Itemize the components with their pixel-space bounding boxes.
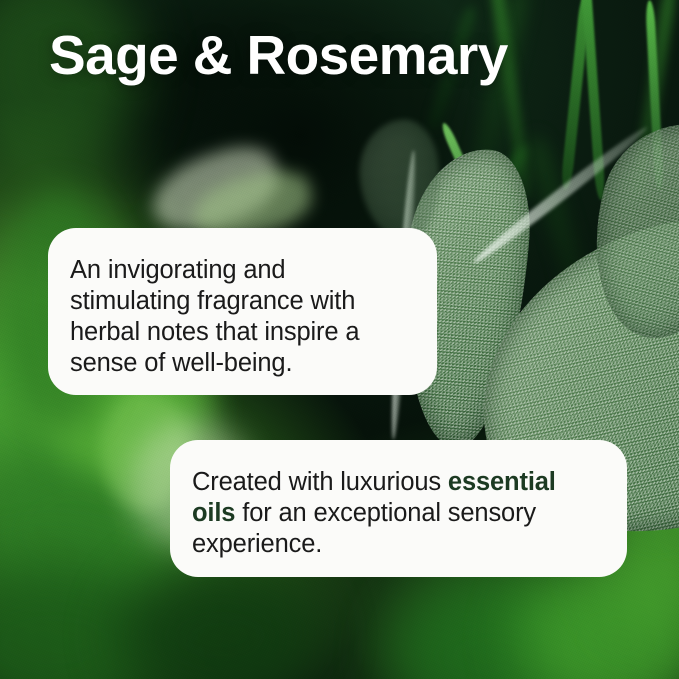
sage-leaf-background: [354, 116, 446, 244]
rosemary-needle: [526, 134, 593, 312]
card-text-tail: for an exceptional sensory experience.: [192, 499, 536, 558]
leaf-blob: [520, 560, 679, 679]
card-line: sense of well-being.: [70, 348, 415, 379]
page-title: Sage & Rosemary: [49, 26, 508, 85]
card-line: herbal notes that inspire a: [70, 317, 415, 348]
leaf-blob: [0, 430, 190, 630]
rosemary-needle: [560, 0, 592, 191]
sage-leaf: [572, 105, 679, 355]
rosemary-needle: [645, 0, 664, 190]
product-feature-image: Sage & Rosemary An invigorating and stim…: [0, 0, 679, 679]
rosemary-needle: [449, 143, 531, 293]
fragrance-description-card: An invigorating and stimulating fragranc…: [48, 228, 437, 395]
sage-leaf-edge: [470, 123, 651, 268]
card-line: An invigorating and: [70, 255, 415, 286]
leaf-blob: [390, 580, 590, 679]
essential-oils-description-card: Created with luxurious essential oils fo…: [170, 440, 627, 577]
leaf-blob: [120, 560, 320, 679]
rosemary-needle: [439, 121, 508, 262]
card-text-lead: Created with luxurious: [192, 468, 448, 496]
card-paragraph: Created with luxurious essential oils fo…: [192, 467, 605, 560]
card-line: stimulating fragrance with: [70, 286, 415, 317]
rosemary-needle: [579, 0, 606, 200]
rosemary-needle: [630, 0, 678, 201]
leaf-blob: [0, 560, 170, 679]
